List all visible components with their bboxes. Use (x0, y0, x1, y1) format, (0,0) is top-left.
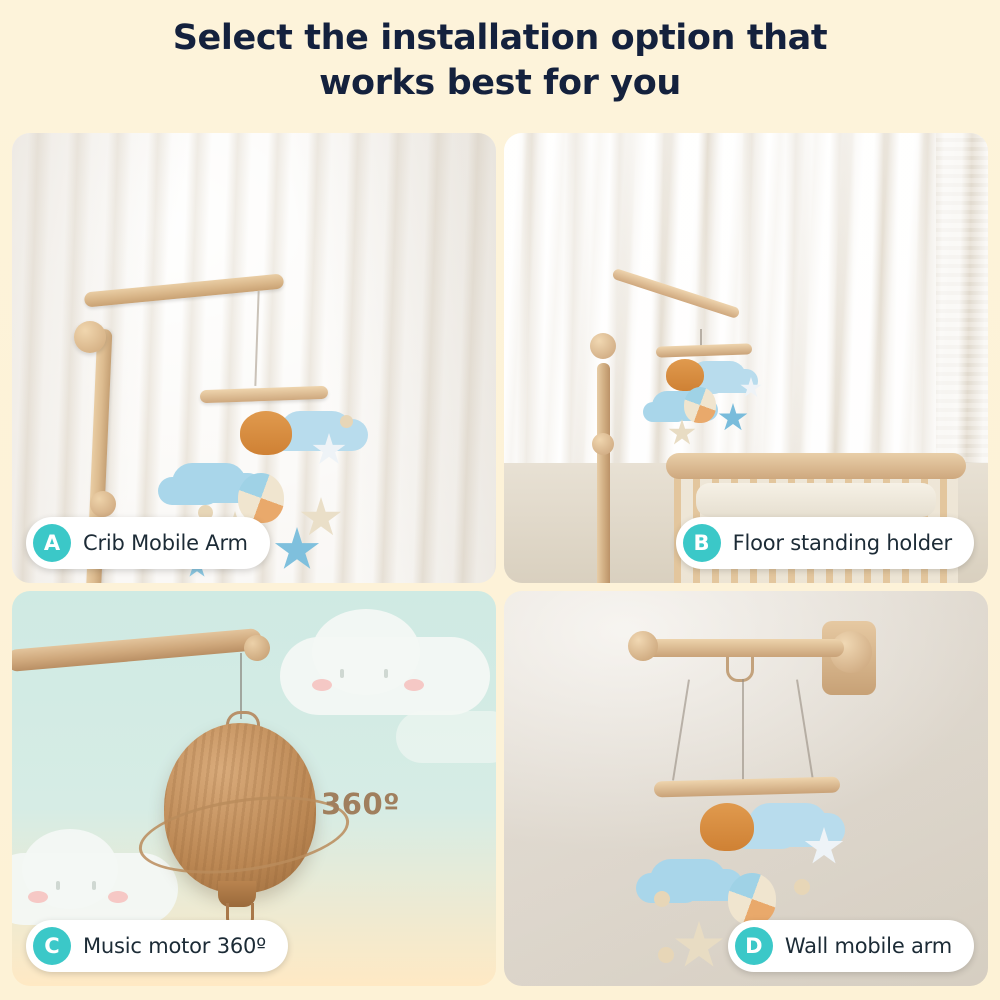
option-card-a[interactable]: A Crib Mobile Arm (12, 133, 496, 583)
wooden-bead-d2 (658, 947, 674, 963)
felt-balloon-d (728, 873, 776, 925)
option-card-d[interactable]: D Wall mobile arm (504, 591, 988, 986)
felt-sun (240, 411, 292, 455)
option-card-c[interactable]: 360º C Music motor 360º (12, 591, 496, 986)
page-title: Select the installation option that work… (0, 0, 1000, 106)
mobile-string-center (742, 679, 744, 781)
cloud2-eye-right (92, 881, 96, 890)
rotation-annotation: 360º (321, 787, 400, 821)
crib-rim (666, 453, 966, 479)
cloud2-eye-left (56, 881, 60, 890)
wall-arm-end-ball (628, 631, 658, 661)
stand-joint-knob (590, 333, 616, 359)
crib-mattress (696, 483, 936, 517)
wooden-bead-2 (340, 415, 353, 428)
cloud-eye-right (384, 669, 388, 678)
felt-balloon-b (684, 387, 716, 423)
option-letter-b: B (683, 524, 721, 562)
option-pill-a[interactable]: A Crib Mobile Arm (26, 517, 270, 569)
option-letter-d: D (735, 927, 773, 965)
wooden-rod (12, 628, 262, 672)
wall-arm (644, 639, 844, 657)
cloud-cheek-right (404, 679, 424, 691)
option-label-d: Wall mobile arm (785, 934, 952, 958)
option-pill-b[interactable]: B Floor standing holder (676, 517, 974, 569)
motor-string (240, 653, 242, 719)
cloud2-cheek-left (28, 891, 48, 903)
felt-cloud-d1 (748, 803, 828, 847)
felt-cloud-2 (172, 463, 246, 503)
option-pill-d[interactable]: D Wall mobile arm (728, 920, 974, 972)
option-letter-c: C (33, 927, 71, 965)
arm-joint-knob (74, 321, 106, 353)
stand-height-knob (592, 433, 614, 455)
option-label-a: Crib Mobile Arm (83, 531, 248, 555)
arm-lower-knob (90, 491, 116, 517)
promo-infographic: Select the installation option that work… (0, 0, 1000, 1000)
option-label-b: Floor standing holder (733, 531, 952, 555)
felt-balloon (238, 473, 284, 523)
decor-cloud-right (396, 711, 496, 763)
cloud-cheek-left (312, 679, 332, 691)
cloud2-cheek-right (108, 891, 128, 903)
wooden-rod-end (243, 634, 271, 662)
option-letter-a: A (33, 524, 71, 562)
felt-sun-d (700, 803, 754, 851)
options-grid: A Crib Mobile Arm (12, 133, 988, 988)
wooden-bead-d1 (654, 891, 670, 907)
wooden-bead-d3 (794, 879, 810, 895)
option-card-b[interactable]: B Floor standing holder (504, 133, 988, 583)
option-label-c: Music motor 360º (83, 934, 266, 958)
page-title-line-1: Select the installation option that (60, 16, 940, 61)
option-pill-c[interactable]: C Music motor 360º (26, 920, 288, 972)
cloud-eye-left (340, 669, 344, 678)
page-title-line-2: works best for you (60, 61, 940, 106)
stand-pole (597, 363, 610, 583)
wall-arm-hook (726, 657, 754, 682)
